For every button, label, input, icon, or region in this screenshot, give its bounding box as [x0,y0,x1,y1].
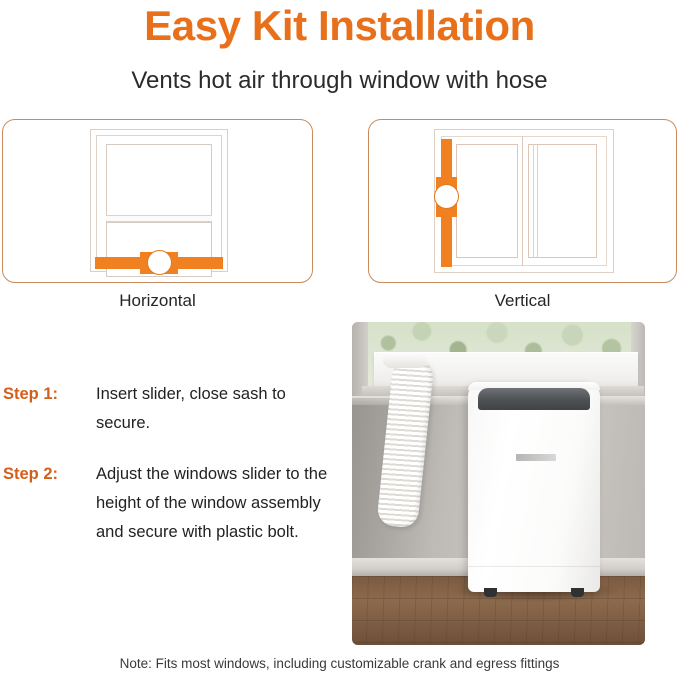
window-mullion [522,136,523,266]
window-pane-left [456,144,518,258]
window-pane-right [528,144,597,258]
page-subtitle: Vents hot air through window with hose [0,66,679,96]
panel-label-vertical: Vertical [368,290,677,312]
page-title: Easy Kit Installation [0,2,679,50]
diagram-panel-horizontal [2,119,313,283]
panel-label-horizontal: Horizontal [2,290,313,312]
horizontal-window-illustration [90,129,228,272]
step-label: Step 1: [3,380,58,409]
step-description: Adjust the windows slider to the height … [96,460,339,547]
vertical-window-illustration [434,129,614,273]
step-description: Insert slider, close sash to secure. [96,380,339,438]
installation-steps-list: Step 1: Insert slider, close sash to sec… [3,380,339,569]
window-upper-sash [106,144,212,222]
window-mullion-tertiary [537,144,538,258]
photo-hose-window-collar [383,352,427,368]
photo-ac-panel-seam [468,566,600,567]
window-mullion-secondary [533,144,534,258]
photo-ac-brand-logo [516,454,556,461]
step-item: Step 1: Insert slider, close sash to sec… [3,380,339,438]
photo-ac-caster-right [571,588,584,597]
plastic-bolt-icon [147,250,172,275]
step-label: Step 2: [3,460,58,489]
plastic-bolt-icon [434,184,459,209]
photo-portable-air-conditioner [468,382,600,592]
photo-ac-top-vent [478,388,590,410]
footer-note: Note: Fits most windows, including custo… [0,655,679,673]
photo-ac-caster-left [484,588,497,597]
step-item: Step 2: Adjust the windows slider to the… [3,460,339,547]
window-meeting-rail [106,215,212,222]
diagram-panel-vertical [368,119,677,283]
product-photo [352,322,645,645]
